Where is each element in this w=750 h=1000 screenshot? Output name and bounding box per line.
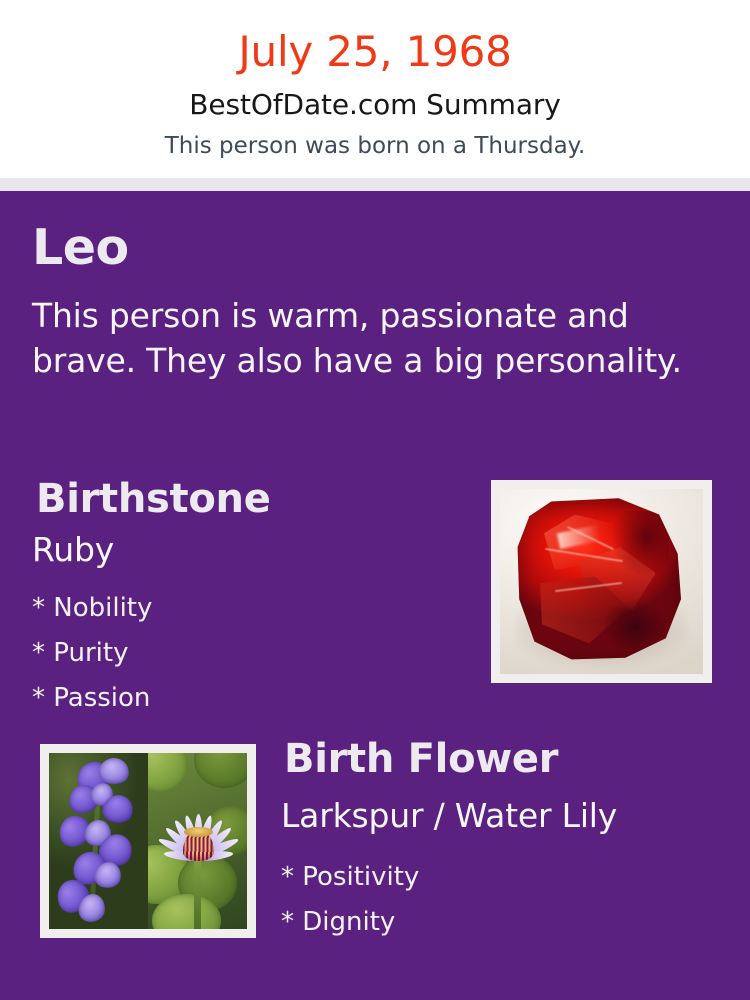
zodiac-description: This person is warm, passionate and brav…	[32, 293, 712, 383]
list-item: * Purity	[32, 631, 152, 676]
ruby-shading	[612, 511, 669, 576]
birth-flower-name: Larkspur / Water Lily	[281, 799, 617, 834]
lily-bloom	[164, 785, 233, 862]
birth-day-note: This person was born on a Thursday.	[0, 119, 750, 158]
summary-card: July 25, 1968 BestOfDate.com Summary Thi…	[0, 0, 750, 1000]
birth-flower-image-frame	[40, 744, 256, 938]
birth-flower-heading: Birth Flower	[284, 738, 558, 780]
birth-flower-trait-list: * Positivity * Dignity	[281, 855, 419, 945]
list-item: * Passion	[32, 676, 152, 721]
ruby-gemstone-image	[500, 489, 703, 674]
larkspur-flower-image	[49, 753, 148, 929]
birthstone-trait-list: * Nobility * Purity * Passion	[32, 586, 152, 721]
list-item: * Dignity	[281, 900, 419, 945]
birthstone-name: Ruby	[32, 533, 114, 568]
birth-flower-image-pair	[49, 753, 247, 929]
water-lily-flower-image	[148, 753, 247, 929]
birthstone-heading: Birthstone	[36, 478, 271, 520]
list-item: * Nobility	[32, 586, 152, 631]
birthstone-image-frame	[491, 480, 712, 683]
zodiac-sign-title: Leo	[32, 222, 129, 273]
card-header: July 25, 1968 BestOfDate.com Summary Thi…	[0, 0, 750, 178]
site-summary-label: BestOfDate.com Summary	[0, 73, 750, 119]
header-divider	[0, 178, 750, 191]
list-item: * Positivity	[281, 855, 419, 900]
ruby-crystal	[514, 498, 682, 661]
page-title: July 25, 1968	[0, 0, 750, 73]
